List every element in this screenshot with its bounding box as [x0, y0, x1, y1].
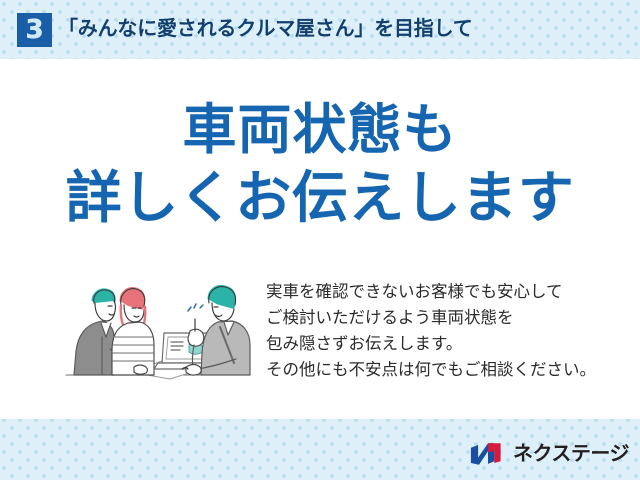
- headline-line-2: 詳しくお伝えします: [0, 164, 640, 232]
- sparkle-marks: [188, 304, 203, 311]
- body-line-2: ご検討いただけるよう車両状態を: [266, 305, 596, 331]
- content-panel: 車両状態も 詳しくお伝えします 実車を確認できないお客様でも安心して ご検討いた…: [0, 59, 640, 419]
- brand-logo: ネクステージ: [470, 436, 630, 472]
- section-number-badge: 3: [17, 13, 52, 47]
- header-band: 3 「みんなに愛されるクルマ屋さん」を目指して: [0, 0, 640, 59]
- body-line-3: 包み隠さずお伝えします。: [266, 331, 596, 357]
- staff-member: [182, 286, 250, 376]
- body-line-1: 実車を確認できないお客様でも安心して: [266, 279, 596, 305]
- customer-female: [112, 288, 154, 375]
- brand-logo-text: ネクステージ: [513, 441, 629, 467]
- body-copy: 実車を確認できないお客様でも安心して ご検討いただけるよう車両状態を 包み隠さず…: [266, 279, 596, 383]
- header-title: 「みんなに愛されるクルマ屋さん」を目指して: [58, 14, 473, 44]
- consultation-illustration: [58, 275, 256, 395]
- slide-canvas: 3 「みんなに愛されるクルマ屋さん」を目指して 車両状態も 詳しくお伝えします …: [0, 0, 640, 480]
- page-title: 車両状態も 詳しくお伝えします: [0, 96, 640, 232]
- nextage-n-mark-icon: [470, 441, 506, 467]
- body-line-4: その他にも不安点は何でもご相談ください。: [266, 357, 596, 383]
- headline-line-1: 車両状態も: [183, 100, 458, 160]
